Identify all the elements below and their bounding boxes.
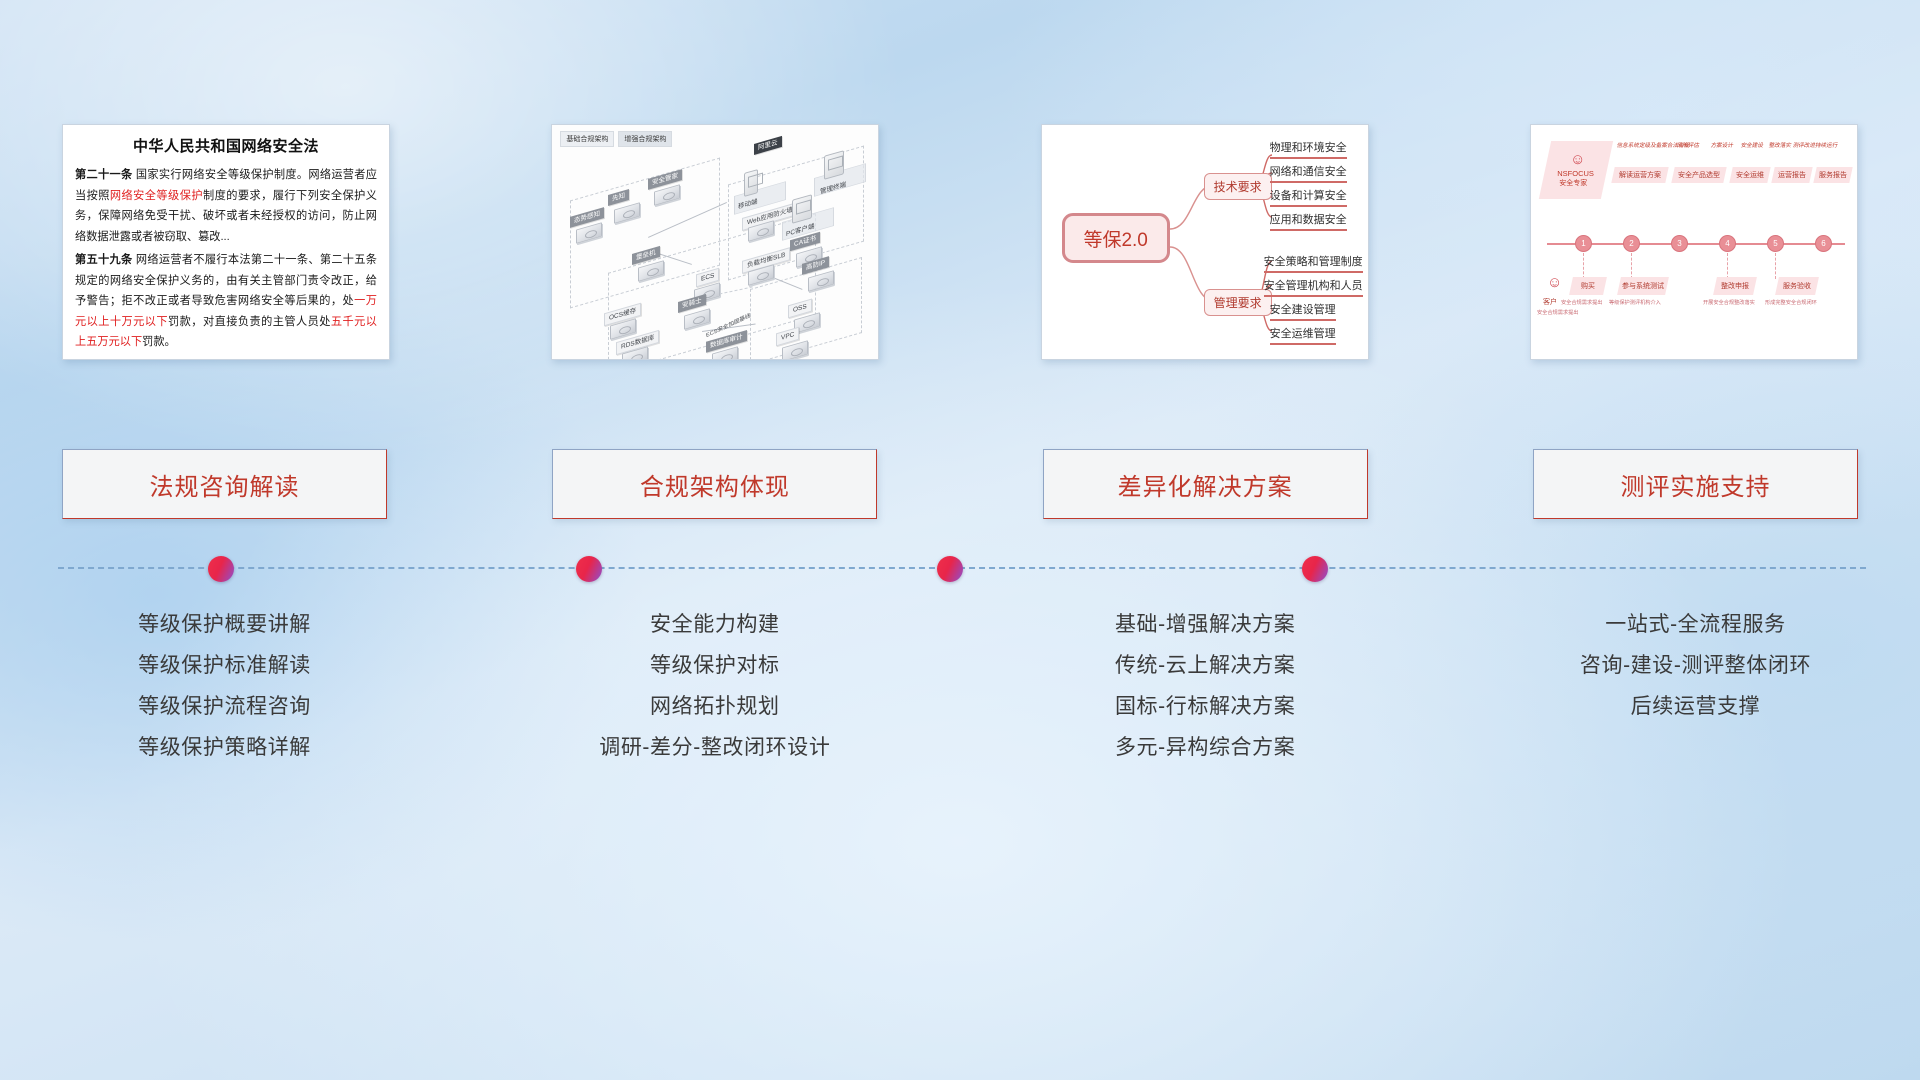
ns-foot-sub-1: 等级保护测评机构介入 (1609, 299, 1661, 306)
section-titles-row: 法规咨询解读 合规架构体现 差异化解决方案 测评实施支持 (62, 449, 1858, 519)
node-alicloud-label: 阿里云 (754, 136, 782, 155)
article-21-highlight: 网络安全等级保护 (110, 190, 203, 202)
mindmap-leaf-policy-system: 安全策略和管理制度 (1264, 253, 1363, 273)
list-item: 传统-云上解决方案 (1115, 645, 1295, 686)
ns-step-4: 4 (1719, 235, 1736, 252)
service-column-1: 等级保护概要讲解 等级保护标准解读 等级保护流程咨询 等级保护策略详解 (62, 604, 387, 768)
ns-vline-2 (1631, 253, 1632, 279)
title-box-assessment-support[interactable]: 测评实施支持 (1533, 449, 1858, 519)
ns-chip-3: 运营报告 (1771, 167, 1812, 183)
list-item: 多元-异构综合方案 (1115, 727, 1295, 768)
law-article-59: 第五十九条 网络运营者不履行本法第二十一条、第二十五条规定的网络安全保护义务的，… (75, 250, 377, 353)
article-59-label: 第五十九条 (75, 254, 132, 266)
list-item: 一站式-全流程服务 (1605, 604, 1785, 645)
mindmap-leaf-physical-env: 物理和环境安全 (1270, 139, 1347, 159)
tab-enhanced-architecture[interactable]: 增强合规架构 (618, 131, 672, 147)
service-column-4: 一站式-全流程服务 咨询-建设-测评整体闭环 后续运营支撑 (1533, 604, 1858, 768)
list-item: 咨询-建设-测评整体闭环 (1580, 645, 1811, 686)
ns-step-5: 5 (1767, 235, 1784, 252)
list-item: 等级保护对标 (650, 645, 780, 686)
list-item: 网络拓扑规划 (650, 686, 780, 727)
ns-foot-3: 服务验收 (1775, 277, 1819, 295)
ns-vline-5 (1775, 253, 1776, 279)
mindmap-leaf-operation: 安全运维管理 (1270, 325, 1336, 345)
node-slb: 负载均衡SLB (748, 267, 774, 283)
mindmap-leaf-network-comm: 网络和通信安全 (1270, 163, 1347, 183)
isometric-diagram: 阿里云 管理终端 态势感知 先知 安全管家 (552, 125, 878, 359)
ns-chip-1: 安全产品选型 (1671, 167, 1726, 183)
ns-chip-4: 服务报告 (1813, 167, 1852, 183)
list-item: 基础-增强解决方案 (1115, 604, 1295, 645)
list-item: 等级保护策略详解 (138, 727, 311, 768)
node-ocs-cache: OCS缓存 (610, 321, 636, 337)
mindmap-branch-management: 管理要求 (1204, 289, 1272, 316)
ns-top-label-2: 方案设计 (1710, 141, 1734, 149)
timeline-dot-2 (576, 556, 602, 582)
timeline-dot-1 (208, 556, 234, 582)
list-item: 后续运营支撑 (1631, 686, 1761, 727)
timeline-dot-3 (937, 556, 963, 582)
customer-label: 客户 (1543, 297, 1557, 307)
article-21-label: 第二十一条 (75, 169, 132, 181)
ns-step-3: 3 (1671, 235, 1688, 252)
node-situational-awareness: 态势感知 (576, 225, 602, 241)
ns-foot-sub-0: 安全合规需求提出 (1561, 299, 1603, 306)
ns-foot-1: 参与系统测试 (1617, 277, 1669, 295)
timeline-dot-4 (1302, 556, 1328, 582)
mindmap-leaf-device-compute: 设备和计算安全 (1270, 187, 1347, 207)
card-compliance-architecture[interactable]: 基础合规架构 增强合规架构 阿里云 管理终端 (551, 124, 879, 360)
person-icon: ☺ (1571, 153, 1586, 167)
nsfocus-expert-label: 安全专家 (1559, 178, 1587, 188)
node-security-butler: 安全管家 (654, 187, 680, 203)
service-column-2: 安全能力构建 等级保护对标 网络拓扑规划 调研-差分-整改闭环设计 (552, 604, 877, 768)
mindmap-leaf-construction: 安全建设管理 (1270, 301, 1336, 321)
customer-icon: ☺ (1547, 275, 1562, 290)
ns-foot-sub-3: 形成完整安全合规闭环 (1765, 299, 1817, 306)
law-article-21: 第二十一条 国家实行网络安全等级保护制度。网络运营者应当按照网络安全等级保护制度… (75, 165, 377, 247)
node-anti-ddos-ip: 高防IP (808, 273, 834, 289)
tab-basic-architecture[interactable]: 基础合规架构 (560, 131, 614, 147)
mindmap-branch-technical: 技术要求 (1204, 173, 1272, 200)
title-box-differentiated-solution[interactable]: 差异化解决方案 (1043, 449, 1368, 519)
title-box-compliance-architecture[interactable]: 合规架构体现 (552, 449, 877, 519)
article-59-text-b: 罚款，对直接负责的主管人员处 (168, 316, 331, 328)
node-waf: Web应用防火墙 (748, 223, 774, 239)
card-nsfocus-process[interactable]: ☺ NSFOCUS 安全专家 信息系统定级及备案合法合规 风险评估 方案设计 安… (1530, 124, 1858, 360)
ns-top-label-5: 测评改进持续运行 (1792, 141, 1838, 149)
ns-chip-2: 安全运维 (1729, 167, 1770, 183)
ns-top-label-1: 风险评估 (1676, 141, 1700, 149)
article-59-text-c: 罚款。 (142, 336, 176, 348)
list-item: 等级保护流程咨询 (138, 686, 311, 727)
card-cybersecurity-law[interactable]: 中华人民共和国网络安全法 第二十一条 国家实行网络安全等级保护制度。网络运营者应… (62, 124, 390, 360)
service-items-row: 等级保护概要讲解 等级保护标准解读 等级保护流程咨询 等级保护策略详解 安全能力… (62, 604, 1858, 768)
node-xianzhi: 先知 (614, 205, 640, 221)
ns-chip-0: 解读运营方案 (1611, 167, 1668, 183)
ns-step-1: 1 (1575, 235, 1592, 252)
ns-foot-2: 整改申报 (1713, 277, 1757, 295)
ns-top-label-3: 安全建设 (1740, 141, 1764, 149)
service-column-3: 基础-增强解决方案 传统-云上解决方案 国标-行标解决方案 多元-异构综合方案 (1043, 604, 1368, 768)
title-box-regulation-consulting[interactable]: 法规咨询解读 (62, 449, 387, 519)
node-vpc: VPC (782, 343, 808, 359)
nsfocus-brand: NSFOCUS (1557, 169, 1594, 178)
law-title: 中华人民共和国网络安全法 (75, 135, 377, 156)
node-aegis: 安骑士 (684, 311, 710, 327)
list-item: 国标-行标解决方案 (1115, 686, 1295, 727)
ns-step-6: 6 (1815, 235, 1832, 252)
mindmap-leaf-app-data: 应用和数据安全 (1270, 211, 1347, 231)
node-bastion-host: 堡垒机 (638, 263, 664, 279)
ns-vline-4 (1727, 253, 1728, 279)
ns-foot-sub-2: 开展安全合规整改落实 (1703, 299, 1755, 306)
nsfocus-expert-badge: ☺ NSFOCUS 安全专家 (1539, 141, 1613, 199)
ns-top-label-4: 整改落实 (1768, 141, 1792, 149)
ns-vline-1 (1583, 253, 1584, 279)
list-item: 调研-差分-整改闭环设计 (599, 727, 830, 768)
mindmap-root-node: 等保2.0 (1062, 213, 1170, 263)
card-mindmap-dengbao[interactable]: 等保2.0 技术要求 管理要求 物理和环境安全 网络和通信安全 设备和计算安全 … (1041, 124, 1369, 360)
customer-sub: 安全合规需求提出 (1537, 309, 1579, 316)
node-database-audit: 数据库审计 (712, 349, 738, 360)
architecture-tabs[interactable]: 基础合规架构 增强合规架构 (560, 131, 672, 147)
ns-step-2: 2 (1623, 235, 1640, 252)
mindmap-leaf-org-personnel: 安全管理机构和人员 (1264, 277, 1363, 297)
list-item: 等级保护概要讲解 (138, 604, 311, 645)
reference-cards-row: 中华人民共和国网络安全法 第二十一条 国家实行网络安全等级保护制度。网络运营者应… (62, 124, 1858, 360)
node-rds-database: RDS数据库 (622, 349, 648, 360)
list-item: 安全能力构建 (650, 604, 780, 645)
ns-foot-0: 购买 (1569, 277, 1607, 295)
list-item: 等级保护标准解读 (138, 645, 311, 686)
